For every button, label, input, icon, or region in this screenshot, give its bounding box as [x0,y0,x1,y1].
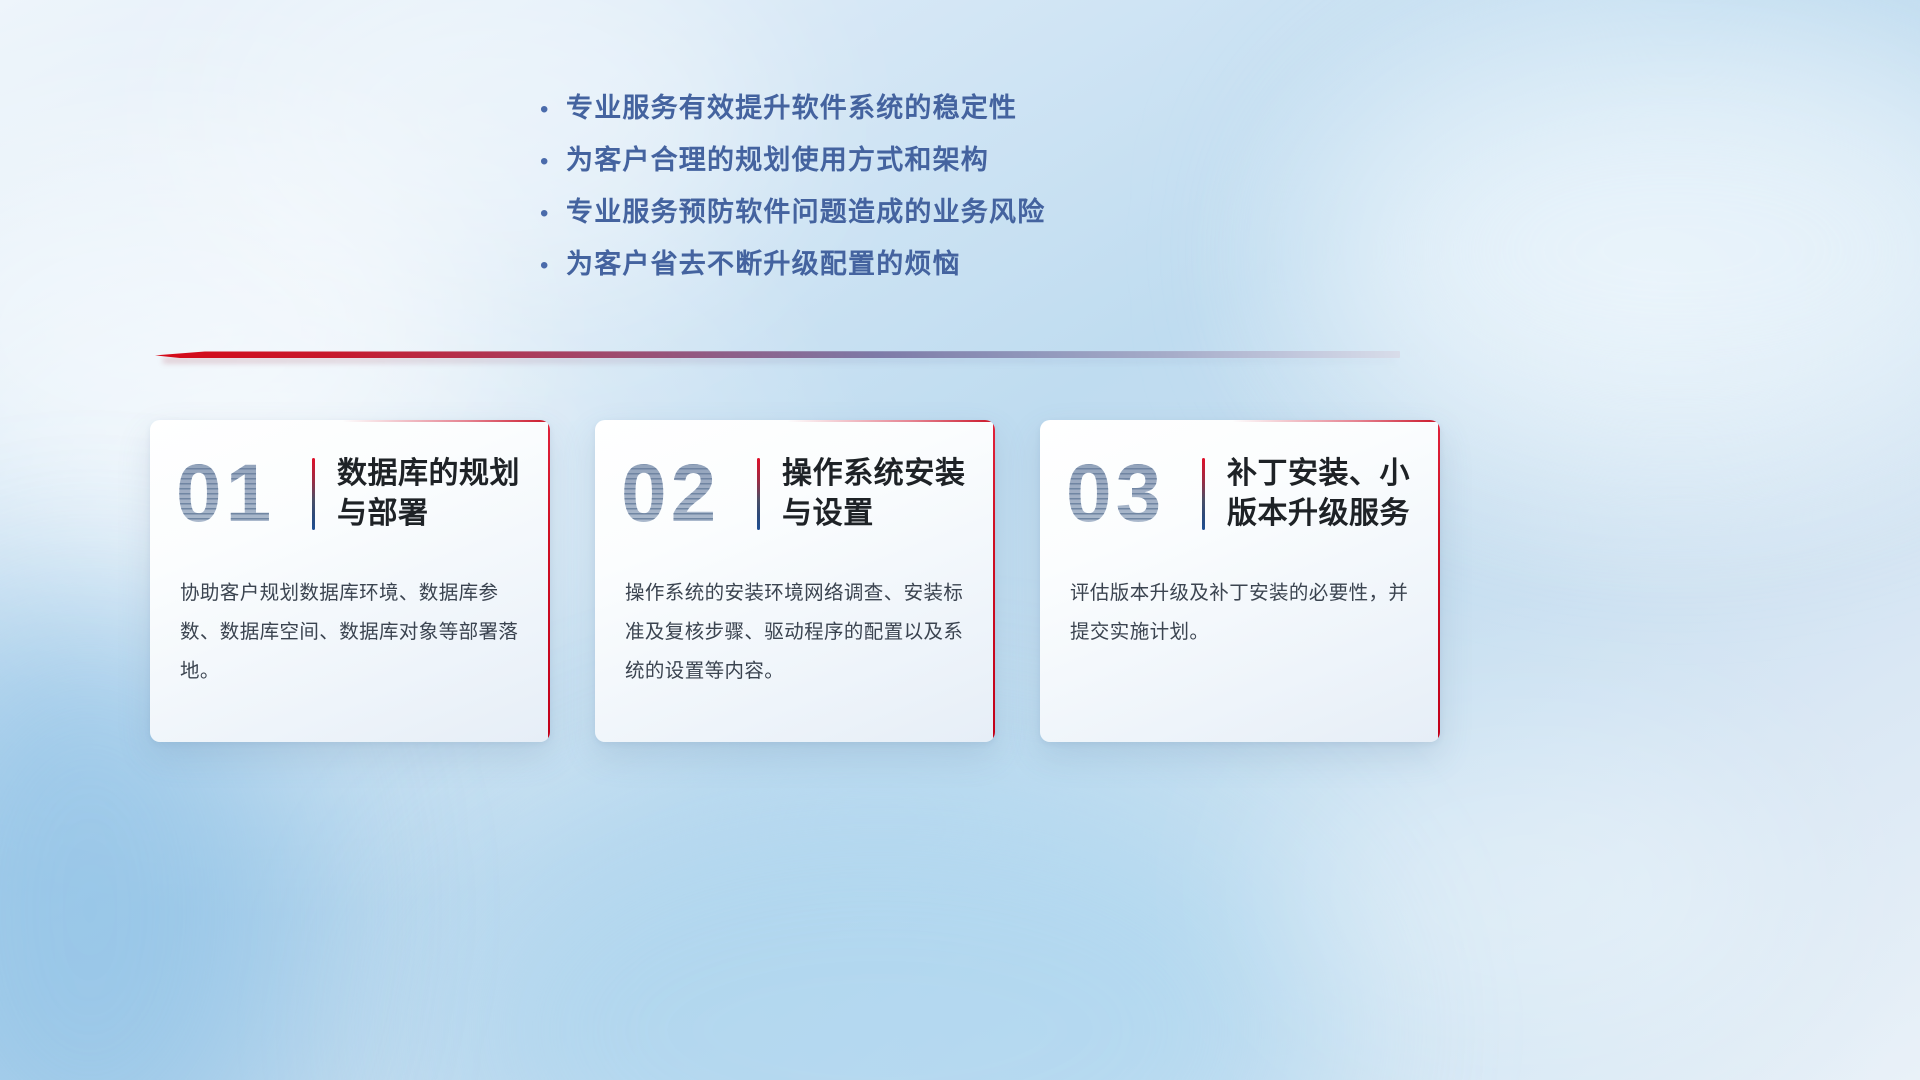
card-number-03: 03 [1066,453,1194,535]
list-item: • 为客户合理的规划使用方式和架构 [540,138,1440,190]
card-header: 02 操作系统安装 与设置 [595,420,995,568]
list-item: • 专业服务有效提升软件系统的稳定性 [540,86,1440,138]
divider-shadow [163,358,1396,363]
card-body-02: 操作系统的安装环境网络调查、安装标准及复核步骤、驱动程序的配置以及系统的设置等内… [595,568,995,691]
card-number-01: 01 [176,453,304,535]
background-glow-bottom-center [430,770,1330,1080]
list-item: • 专业服务预防软件问题造成的业务风险 [540,190,1440,242]
card-number-02: 02 [621,453,749,535]
slide-canvas: • 专业服务有效提升软件系统的稳定性 • 为客户合理的规划使用方式和架构 • 专… [0,0,1920,1080]
card-title-01: 数据库的规划 与部署 [337,454,520,534]
service-card-03[interactable]: 03 补丁安装、小 版本升级服务 评估版本升级及补丁安装的必要性，并提交实施计划… [1040,420,1440,742]
card-header: 03 补丁安装、小 版本升级服务 [1040,420,1440,568]
card-header: 01 数据库的规划 与部署 [150,420,550,568]
bullet-dot-icon: • [540,254,566,278]
gradient-divider [155,347,1400,365]
bullet-dot-icon: • [540,98,566,122]
card-accent-bar [1202,458,1205,530]
card-accent-bar [312,458,315,530]
card-title-02: 操作系统安装 与设置 [782,454,966,534]
benefits-bullet-list: • 专业服务有效提升软件系统的稳定性 • 为客户合理的规划使用方式和架构 • 专… [540,86,1440,294]
bullet-text-3: 专业服务预防软件问题造成的业务风险 [566,190,1045,229]
card-body-03: 评估版本升级及补丁安装的必要性，并提交实施计划。 [1040,568,1440,652]
card-body-01: 协助客户规划数据库环境、数据库参数、数据库空间、数据库对象等部署落地。 [150,568,550,691]
bullet-dot-icon: • [540,202,566,226]
background-glow-bottom-right [1280,740,1800,1040]
service-card-01[interactable]: 01 数据库的规划 与部署 协助客户规划数据库环境、数据库参数、数据库空间、数据… [150,420,550,742]
list-item: • 为客户省去不断升级配置的烦恼 [540,242,1440,294]
bullet-text-4: 为客户省去不断升级配置的烦恼 [566,242,961,281]
card-title-03: 补丁安装、小 版本升级服务 [1227,454,1410,534]
bullet-text-2: 为客户合理的规划使用方式和架构 [566,138,989,177]
service-card-02[interactable]: 02 操作系统安装 与设置 操作系统的安装环境网络调查、安装标准及复核步骤、驱动… [595,420,995,742]
bullet-dot-icon: • [540,150,566,174]
bullet-text-1: 专业服务有效提升软件系统的稳定性 [566,86,1017,125]
divider-line [155,351,1400,358]
card-accent-bar [757,458,760,530]
service-card-group: 01 数据库的规划 与部署 协助客户规划数据库环境、数据库参数、数据库空间、数据… [150,420,1440,742]
